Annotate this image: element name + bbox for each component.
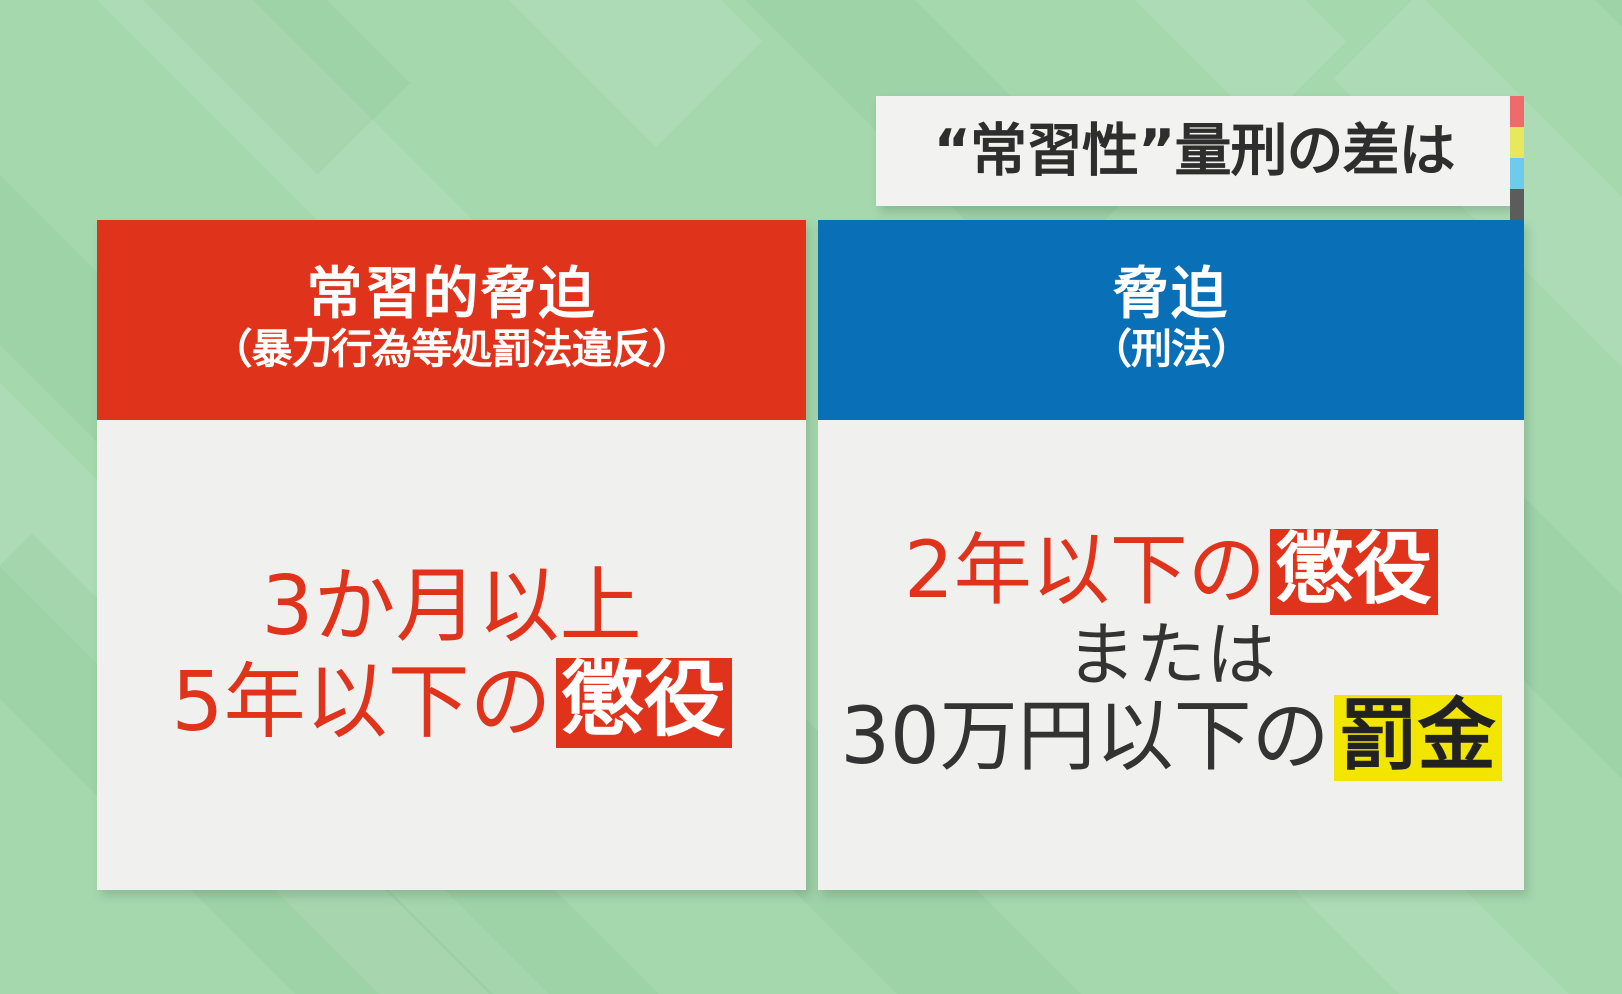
panel-subtitle: （刑法） <box>1091 327 1251 372</box>
highlight-chip-chouyaku: 懲役 <box>1270 529 1438 615</box>
sentence-prefix: 30万円以下の <box>840 694 1329 781</box>
highlight-chip-chouyaku: 懲役 <box>556 658 732 748</box>
sentence-prefix: 2年以下の <box>904 528 1266 615</box>
panel-habitual-intimidation: 常習的脅迫 （暴力行為等処罰法違反） 3か月以上 5年以下の 懲役 <box>97 220 806 890</box>
accent-stripe-gray <box>1510 189 1524 220</box>
accent-stripe-yellow <box>1510 127 1524 158</box>
panel-subtitle: （暴力行為等処罰法違反） <box>212 327 692 372</box>
panel-header-habitual-intimidation: 常習的脅迫 （暴力行為等処罰法違反） <box>97 220 806 420</box>
accent-stripe-red <box>1510 96 1524 127</box>
panel-title: 常習的脅迫 <box>307 266 597 325</box>
highlight-chip-bakkin: 罰金 <box>1334 695 1502 781</box>
panel-body-habitual-intimidation: 3か月以上 5年以下の 懲役 <box>97 420 806 890</box>
panel-intimidation: 脅迫 （刑法） 2年以下の 懲役 または 30万円以下の 罰金 <box>818 220 1524 890</box>
infographic-stage: “常習性”量刑の差は 常習的脅迫 （暴力行為等処罰法違反） 3か月以上 5年以下… <box>0 0 1622 994</box>
accent-stripe-cyan <box>1510 158 1524 189</box>
headline-banner: “常習性”量刑の差は <box>876 96 1510 206</box>
panel-title: 脅迫 <box>1113 266 1229 325</box>
accent-stripe-group <box>1510 96 1524 220</box>
sentence-line: 2年以下の 懲役 <box>904 528 1438 615</box>
sentence-line: 30万円以下の 罰金 <box>840 694 1501 781</box>
headline-text: “常習性”量刑の差は <box>926 123 1461 180</box>
sentence-prefix: 5年以下の <box>171 657 551 749</box>
panel-header-intimidation: 脅迫 （刑法） <box>818 220 1524 420</box>
panel-body-intimidation: 2年以下の 懲役 または 30万円以下の 罰金 <box>818 420 1524 890</box>
sentence-line: 5年以下の 懲役 <box>171 657 731 749</box>
sentence-conjunction: または <box>1066 616 1276 694</box>
sentence-line: 3か月以上 <box>261 561 641 653</box>
